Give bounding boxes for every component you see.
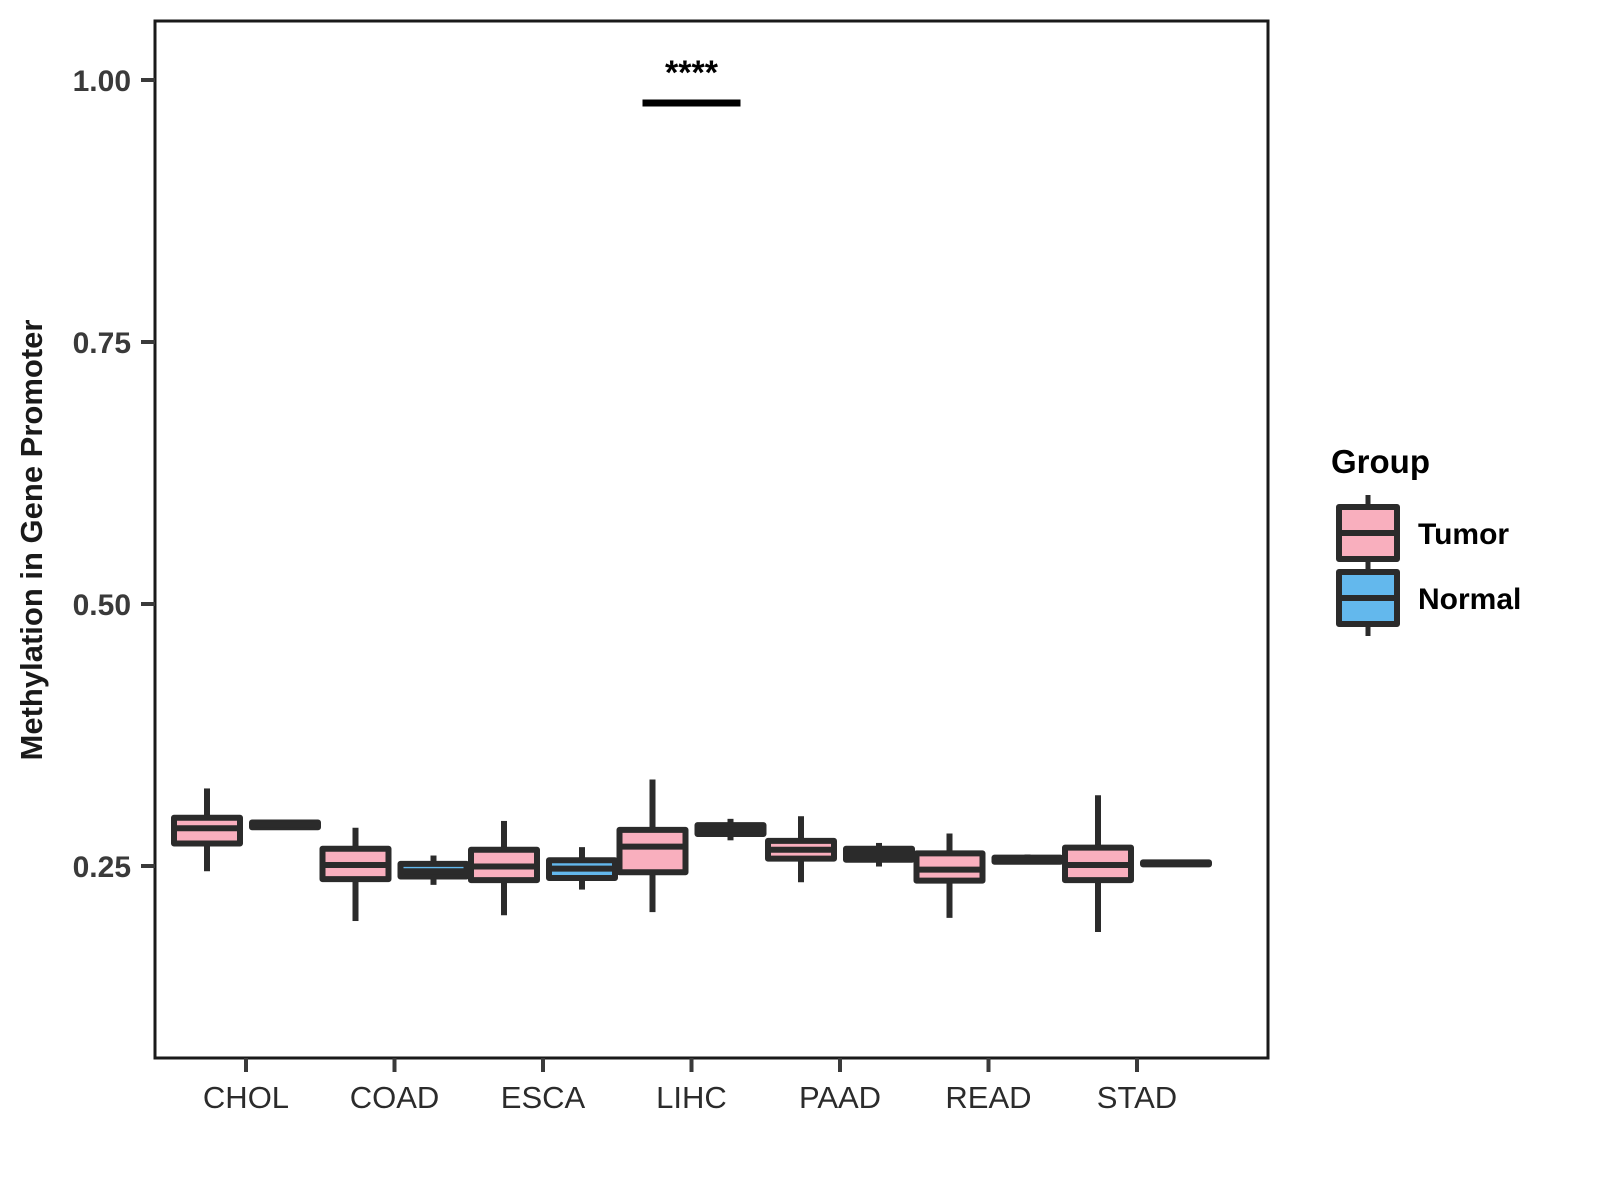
x-tick-label-lihc: LIHC — [656, 1080, 727, 1115]
x-tick-label-chol: CHOL — [203, 1080, 289, 1115]
plot-panel — [155, 21, 1268, 1058]
box-chol-normal — [252, 821, 318, 828]
y-axis-label: Methylation in Gene Promoter — [14, 320, 49, 761]
legend-label-tumor: Tumor — [1418, 518, 1509, 551]
x-tick-label-read: READ — [945, 1080, 1031, 1115]
x-tick-label-esca: ESCA — [501, 1080, 586, 1115]
x-tick-label-coad: COAD — [350, 1080, 440, 1115]
boxplot-figure: Methylation in Gene Promoter 0.250.500.7… — [0, 0, 1600, 1200]
y-tick-label: 0.75 — [73, 327, 131, 360]
x-tick-label-stad: STAD — [1097, 1080, 1177, 1115]
box-stad-normal — [1143, 862, 1209, 865]
box-iqr — [620, 830, 686, 872]
significance-label: **** — [665, 54, 719, 92]
box-read-normal — [995, 854, 1061, 863]
y-tick-label: 1.00 — [73, 65, 131, 98]
chart-root: Methylation in Gene Promoter 0.250.500.7… — [0, 0, 1600, 1200]
y-tick-label: 0.50 — [73, 589, 131, 622]
legend-title: Group — [1331, 443, 1430, 480]
y-tick-label: 0.25 — [73, 851, 131, 884]
legend-label-normal: Normal — [1418, 583, 1521, 616]
x-tick-label-paad: PAAD — [799, 1080, 881, 1115]
